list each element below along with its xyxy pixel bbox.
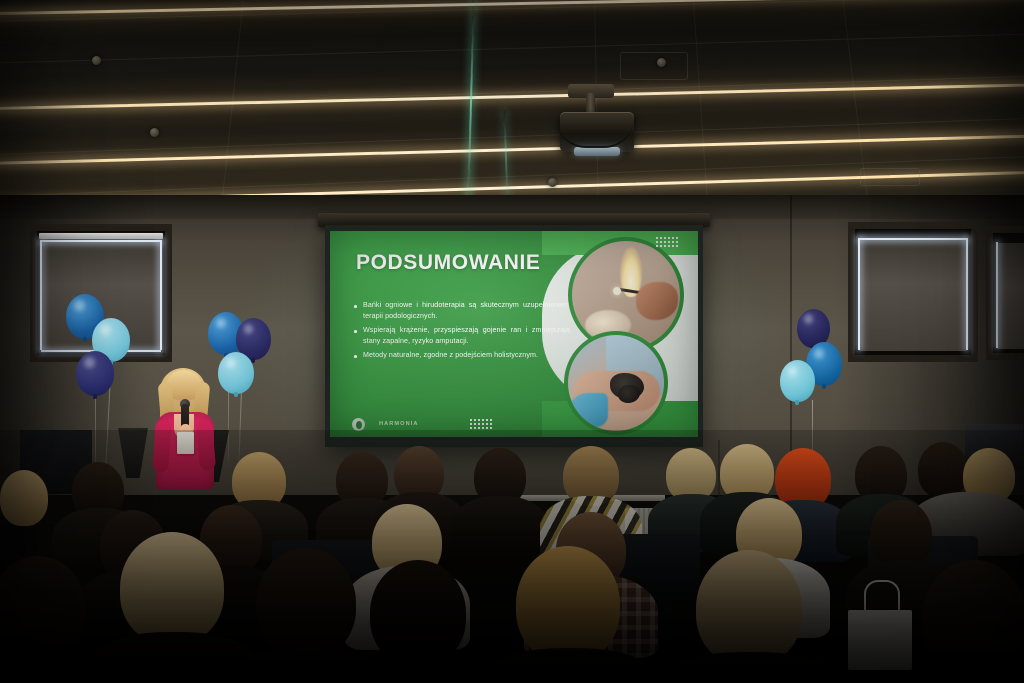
dot-pattern-top (656, 237, 678, 247)
ceiling (0, 0, 1024, 205)
microphone-flag (177, 432, 194, 454)
audience-head (0, 556, 86, 660)
blind-light-leak (41, 240, 161, 242)
tote-bag-handle (864, 580, 900, 614)
ceiling-light-strip (0, 80, 1024, 112)
audience-head (922, 560, 1024, 674)
audience-head (0, 470, 48, 526)
slide-bullet-list: Bańki ogniowe i hirudoterapia są skutecz… (354, 300, 570, 363)
leech-therapy-photo (564, 331, 668, 435)
speaker (152, 368, 218, 503)
audience-head (918, 442, 968, 498)
partner-logo-text: HARMONIA (379, 421, 419, 429)
audience-head (370, 560, 466, 666)
leaf-circle-logo-icon (352, 418, 365, 431)
balloon-knot (83, 337, 87, 342)
blind-light-leak (966, 238, 968, 350)
window-far-right (986, 226, 1024, 360)
presentation-slide: PODSUMOWANIE Bańki ogniowe i hirudoterap… (330, 231, 698, 437)
balloon-lightblue (218, 352, 254, 394)
window-blind (997, 243, 1024, 349)
blind-light-leak (40, 240, 42, 350)
slide-title: PODSUMOWANIE (356, 251, 541, 275)
balloon-navy (76, 351, 114, 396)
audience-head (256, 548, 356, 658)
blind-light-leak (858, 238, 860, 350)
wall-corner (790, 195, 792, 485)
partner-logo-name: HARMONIA (379, 421, 419, 429)
audience-shoulders (668, 652, 832, 683)
balloon-knot (795, 400, 799, 405)
slide-bullet-item: Metody naturalne, zgodne z podejściem ho… (354, 350, 570, 361)
balloon-knot (234, 392, 238, 397)
conference-photo: PODSUMOWANIE Bańki ogniowe i hirudoterap… (0, 0, 1024, 683)
blind-headrail (39, 233, 163, 239)
audience-shoulders (452, 496, 548, 558)
blue-sleeve (568, 393, 608, 427)
window-right (848, 222, 978, 362)
blind-light-leak (859, 238, 967, 240)
slide-bullet-item: Bańki ogniowe i hirudoterapia są skutecz… (354, 300, 570, 323)
balloon-lightblue (780, 360, 815, 402)
audience-shoulders (230, 648, 388, 683)
ceiling-accent-line (467, 0, 474, 205)
balloon-knot (822, 384, 826, 389)
slide-logo-row: HARMONIA (352, 418, 419, 431)
projector-lens (574, 147, 620, 156)
audience-head (120, 532, 224, 644)
audience-shoulders (490, 648, 650, 683)
cotton-tip (613, 287, 621, 295)
window-blind (859, 239, 967, 351)
ceiling-accent-line (503, 110, 508, 205)
blind-light-leak (996, 242, 998, 348)
dot-pattern-bottom (470, 419, 492, 429)
tote-bag (848, 610, 912, 670)
balloon-knot (93, 394, 97, 399)
therapist-hand (636, 282, 678, 320)
projection-screen: PODSUMOWANIE Bańki ogniowe i hirudoterap… (325, 225, 703, 447)
audience-head (516, 546, 620, 662)
blind-light-leak (160, 240, 162, 350)
slide-bullet-item: Wspierają krążenie, przyspieszają gojeni… (354, 325, 570, 348)
audience-head (696, 550, 802, 666)
